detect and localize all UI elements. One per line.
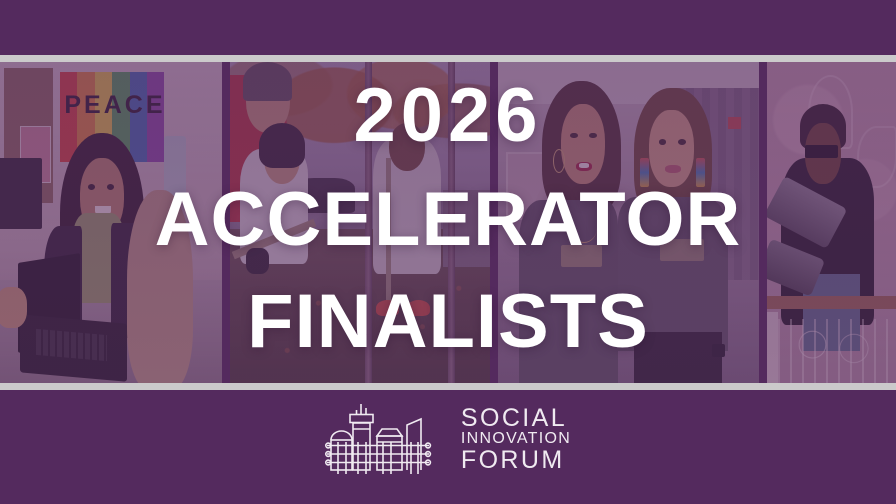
organization-logo: SOCIAL INNOVATION FORUM <box>0 402 896 476</box>
photo-panel-office-laptop-peace-flag: PEACE <box>0 62 222 383</box>
purple-tint-overlay <box>0 62 222 383</box>
purple-tint-overlay <box>767 62 896 383</box>
logo-wordmark: SOCIAL INNOVATION FORUM <box>461 405 571 474</box>
poster-canvas: PEACE <box>0 0 896 504</box>
band-rule-bottom <box>0 383 896 390</box>
band-rule-top <box>0 55 896 62</box>
panel-divider-3 <box>759 62 767 383</box>
photo-band: PEACE <box>0 55 896 390</box>
purple-tint-overlay <box>498 62 759 383</box>
purple-tint-overlay <box>230 62 490 383</box>
photo-panel-outdoor-tree-planting: PROVIDENCE COLLEGE <box>230 62 490 383</box>
photo-panel-two-women-smiling <box>498 62 759 383</box>
logo-line-social: SOCIAL <box>461 405 571 431</box>
city-skyline-mark <box>325 402 445 476</box>
panel-divider-1 <box>222 62 230 383</box>
photo-panel-row: PEACE <box>0 62 896 383</box>
photo-panel-student-with-telescope <box>767 62 896 383</box>
logo-line-forum: FORUM <box>461 447 571 473</box>
panel-divider-2 <box>490 62 498 383</box>
logo-line-innovation: INNOVATION <box>461 431 571 448</box>
